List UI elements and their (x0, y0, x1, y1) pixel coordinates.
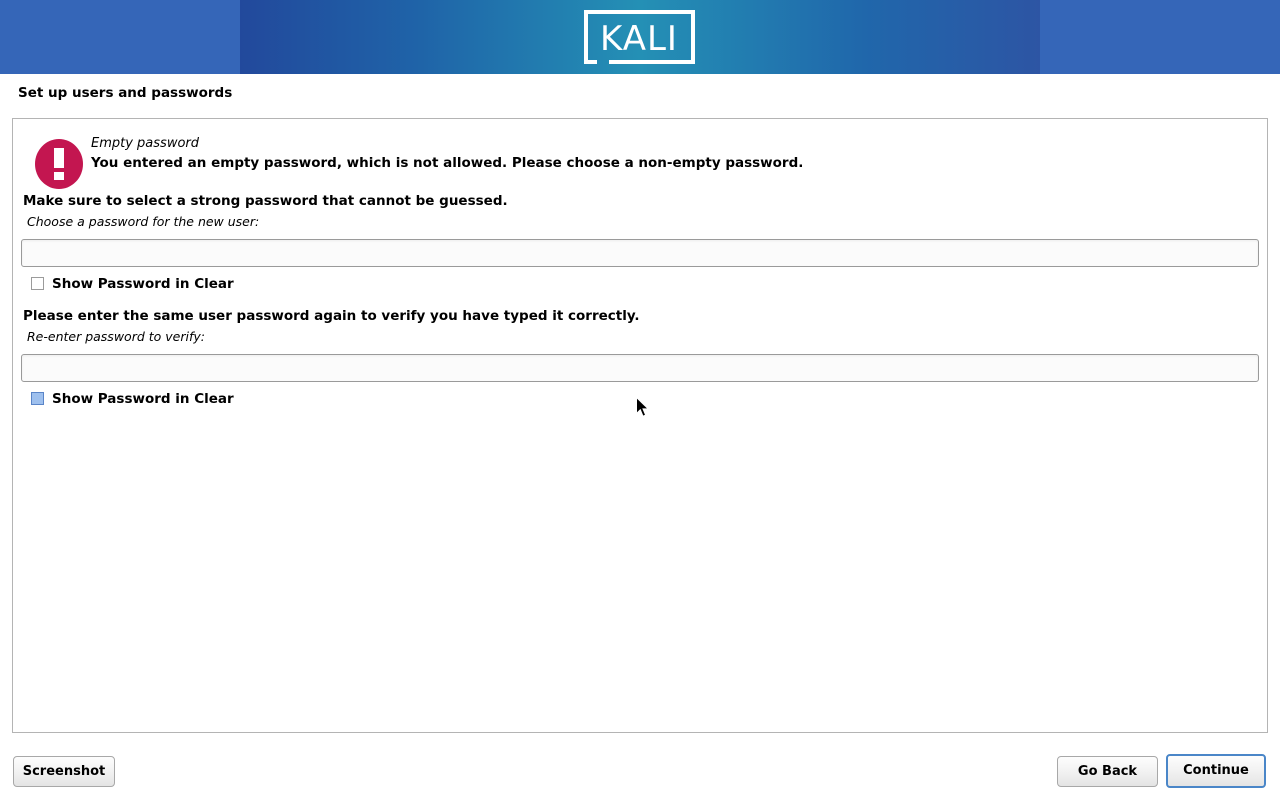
show-password-label-1: Show Password in Clear (52, 276, 234, 292)
error-exclamation-icon (35, 139, 83, 189)
screenshot-button[interactable]: Screenshot (13, 756, 115, 787)
installer-window: KALI Set up users and passwords Empty pa… (0, 0, 1280, 800)
error-message: You entered an empty password, which is … (91, 155, 803, 171)
show-password-checkbox-2[interactable] (31, 392, 44, 405)
content-panel: Empty password You entered an empty pass… (12, 118, 1268, 733)
kali-logo: KALI (583, 9, 696, 65)
continue-button[interactable]: Continue (1166, 754, 1266, 788)
show-password-label-2: Show Password in Clear (52, 391, 234, 407)
verify-field-label: Re-enter password to verify: (27, 329, 205, 344)
password-input[interactable] (21, 239, 1259, 267)
svg-text:KALI: KALI (600, 19, 678, 59)
verify-password-note: Please enter the same user password agai… (23, 308, 640, 324)
password-field-label: Choose a password for the new user: (27, 214, 259, 229)
show-password-checkbox-1[interactable] (31, 277, 44, 290)
verify-password-input[interactable] (21, 354, 1259, 382)
page-title: Set up users and passwords (18, 85, 232, 101)
error-title: Empty password (91, 136, 199, 151)
strong-password-note: Make sure to select a strong password th… (23, 193, 508, 209)
go-back-button[interactable]: Go Back (1057, 756, 1158, 787)
kali-banner: KALI (0, 0, 1280, 74)
